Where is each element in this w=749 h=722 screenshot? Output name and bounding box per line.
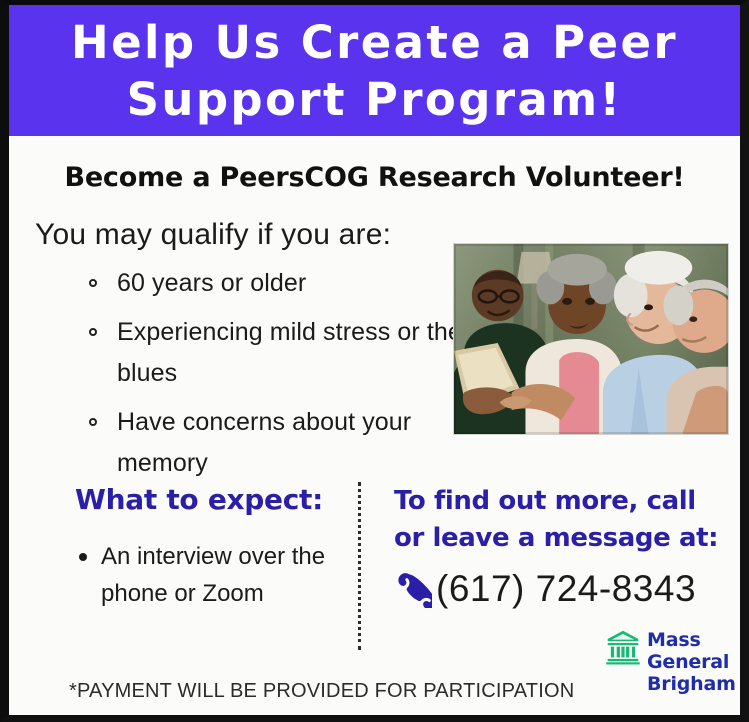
logo-line-1: Mass: [647, 629, 736, 651]
qualify-item-label: 60 years or older: [117, 269, 306, 297]
building-columns-icon: [605, 629, 641, 665]
list-item: 60 years or older: [85, 263, 465, 304]
banner-title-line-2: Support Program!: [127, 71, 623, 128]
older-adults-photo: [453, 243, 729, 435]
phone-contact-row[interactable]: (617) 724-8343: [394, 568, 696, 610]
list-item: An interview over the phone or Zoom: [77, 538, 339, 612]
mass-general-brigham-logo: Mass General Brigham: [605, 629, 736, 695]
column-divider: [358, 482, 361, 650]
contact-heading-line-1: To find out more, call: [394, 483, 724, 520]
logo-line-2: General: [647, 651, 736, 673]
qualify-lead-text: You may qualify if you are:: [35, 218, 391, 252]
contact-heading-line-2: or leave a message at:: [394, 520, 724, 557]
logo-wordmark: Mass General Brigham: [647, 629, 736, 695]
subtitle-heading: Become a PeersCOG Research Volunteer!: [9, 162, 740, 193]
contact-heading: To find out more, call or leave a messag…: [394, 483, 724, 557]
qualify-item-label: Experiencing mild stress or the blues: [117, 318, 462, 387]
banner-title-line-1: Help Us Create a Peer: [71, 14, 678, 71]
expect-item-label: An interview over the phone or Zoom: [101, 543, 325, 607]
phone-handset-icon: [394, 570, 432, 608]
phone-number-text[interactable]: (617) 724-8343: [436, 568, 696, 610]
recruitment-flyer: Help Us Create a Peer Support Program! B…: [0, 0, 749, 722]
what-to-expect-heading: What to expect:: [75, 483, 323, 516]
list-item: Have concerns about your memory: [85, 402, 465, 484]
logo-line-3: Brigham: [647, 673, 736, 695]
list-item: Experiencing mild stress or the blues: [85, 312, 465, 394]
header-banner: Help Us Create a Peer Support Program!: [9, 5, 740, 136]
what-to-expect-list: An interview over the phone or Zoom: [77, 538, 339, 612]
qualify-item-label: Have concerns about your memory: [117, 408, 411, 477]
payment-footnote: *PAYMENT WILL BE PROVIDED FOR PARTICIPAT…: [69, 680, 574, 703]
qualify-criteria-list: 60 years or older Experiencing mild stre…: [85, 263, 465, 492]
